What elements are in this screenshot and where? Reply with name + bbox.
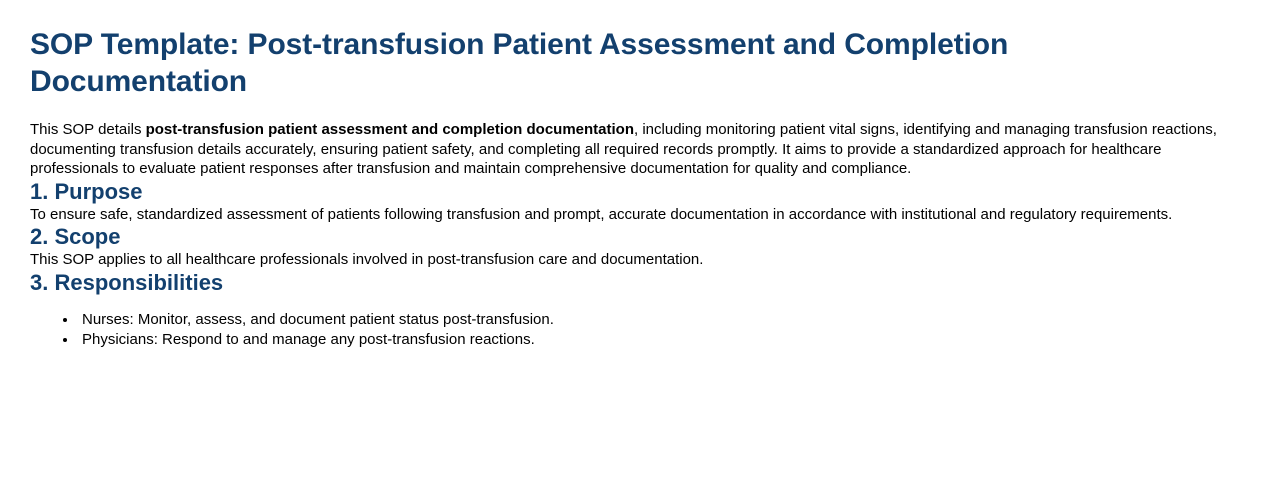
document-page: SOP Template: Post-transfusion Patient A… xyxy=(0,0,1263,350)
intro-paragraph: This SOP details post-transfusion patien… xyxy=(30,120,1233,179)
list-item: Physicians: Respond to and manage any po… xyxy=(78,330,1233,350)
page-title: SOP Template: Post-transfusion Patient A… xyxy=(30,0,1105,100)
list-item: Nurses: Monitor, assess, and document pa… xyxy=(78,310,1233,330)
section-body-scope: This SOP applies to all healthcare profe… xyxy=(30,250,1233,270)
section-body-purpose: To ensure safe, standardized assessment … xyxy=(30,205,1233,225)
section-heading-responsibilities: 3. Responsibilities xyxy=(30,270,1233,296)
section-heading-scope: 2. Scope xyxy=(30,224,1233,250)
section-heading-purpose: 1. Purpose xyxy=(30,179,1233,205)
responsibilities-list: Nurses: Monitor, assess, and document pa… xyxy=(30,310,1233,350)
intro-lead-text: This SOP details xyxy=(30,121,146,138)
intro-bold-phrase: post-transfusion patient assessment and … xyxy=(146,121,634,138)
